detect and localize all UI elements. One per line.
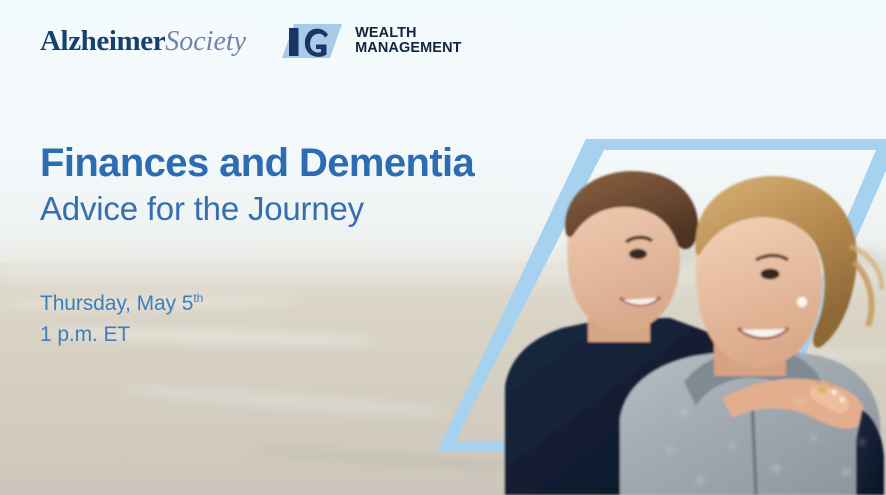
page-subtitle: Advice for the Journey (40, 189, 600, 229)
logo-row: AlzheimerSociety WEALTH MANAGEMENT (40, 20, 462, 62)
ig-wealth-management-logo[interactable]: WEALTH MANAGEMENT (282, 20, 462, 62)
ig-monogram-icon (282, 20, 346, 62)
webinar-promo-banner: AlzheimerSociety WEALTH MANAGEMENT Finan… (0, 0, 886, 495)
alzheimer-society-logo[interactable]: AlzheimerSociety (40, 27, 246, 56)
ig-wordmark: WEALTH MANAGEMENT (355, 26, 462, 57)
event-date-text: Thursday, May 5 (40, 292, 193, 315)
older-woman-earring (797, 297, 807, 307)
page-title: Finances and Dementia (40, 140, 600, 186)
alzheimer-society-wordmark: Alzheimer (40, 25, 165, 57)
older-woman-eye (761, 269, 780, 280)
alzheimer-society-italic: Society (165, 26, 246, 57)
event-date: Thursday, May 5th (40, 288, 203, 319)
ig-wordmark-line2: MANAGEMENT (355, 40, 462, 56)
event-details: Thursday, May 5th 1 p.m. ET (40, 288, 203, 350)
younger-woman-eye (629, 249, 647, 259)
ig-letter-i (289, 28, 299, 56)
event-date-ordinal: th (193, 291, 203, 305)
event-time: 1 p.m. ET (40, 319, 203, 350)
ig-wordmark-line1: WEALTH (355, 25, 417, 41)
headline-block: Finances and Dementia Advice for the Jou… (40, 140, 600, 229)
wedding-ring (817, 387, 827, 393)
